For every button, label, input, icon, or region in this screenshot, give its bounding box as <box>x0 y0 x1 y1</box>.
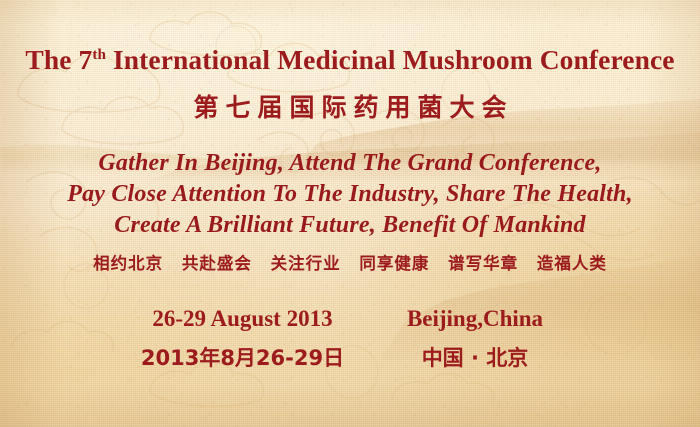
slogan-english-line-3: Create A Brilliant Future, Benefit Of Ma… <box>0 210 700 241</box>
conference-title-chinese: 第七届国际药用菌大会 <box>0 88 700 124</box>
slogan-english-line-2: Pay Close Attention To The Industry, Sha… <box>0 179 700 210</box>
slogan-chinese-group-3: 关注行业 <box>271 250 341 274</box>
poster-content: The 7th International Medicinal Mushroom… <box>0 0 700 427</box>
event-place-chinese: 中国 · 北京 <box>368 342 583 372</box>
event-date-english: 26-29 August 2013 <box>118 306 368 332</box>
conference-poster: The 7th International Medicinal Mushroom… <box>0 0 700 427</box>
title-prefix: The 7 <box>25 44 92 75</box>
slogan-chinese-group-1: 相约北京 <box>93 250 163 274</box>
event-info-row-chinese: 2013年8月26-29日 中国 · 北京 <box>0 342 700 372</box>
slogan-english: Gather In Beijing, Attend The Grand Conf… <box>0 148 700 241</box>
conference-title-english: The 7th International Medicinal Mushroom… <box>0 44 700 76</box>
slogan-chinese-group-5: 谱写华章 <box>448 250 518 274</box>
event-date-chinese: 2013年8月26-29日 <box>118 342 368 372</box>
slogan-chinese-group-6: 造福人类 <box>537 250 607 274</box>
event-info-row-english: 26-29 August 2013 Beijing,China <box>0 306 700 332</box>
slogan-chinese-group-4: 同享健康 <box>359 250 429 274</box>
slogan-english-line-1: Gather In Beijing, Attend The Grand Conf… <box>0 148 700 179</box>
title-suffix: International Medicinal Mushroom Confere… <box>106 44 675 75</box>
slogan-chinese-group-2: 共赴盛会 <box>182 250 252 274</box>
event-place-english: Beijing,China <box>368 306 583 332</box>
event-info-block: 26-29 August 2013 Beijing,China 2013年8月2… <box>0 306 700 372</box>
title-ordinal-suffix: th <box>92 47 106 63</box>
slogan-chinese: 相约北京 共赴盛会 关注行业 同享健康 谱写华章 造福人类 <box>0 250 700 274</box>
